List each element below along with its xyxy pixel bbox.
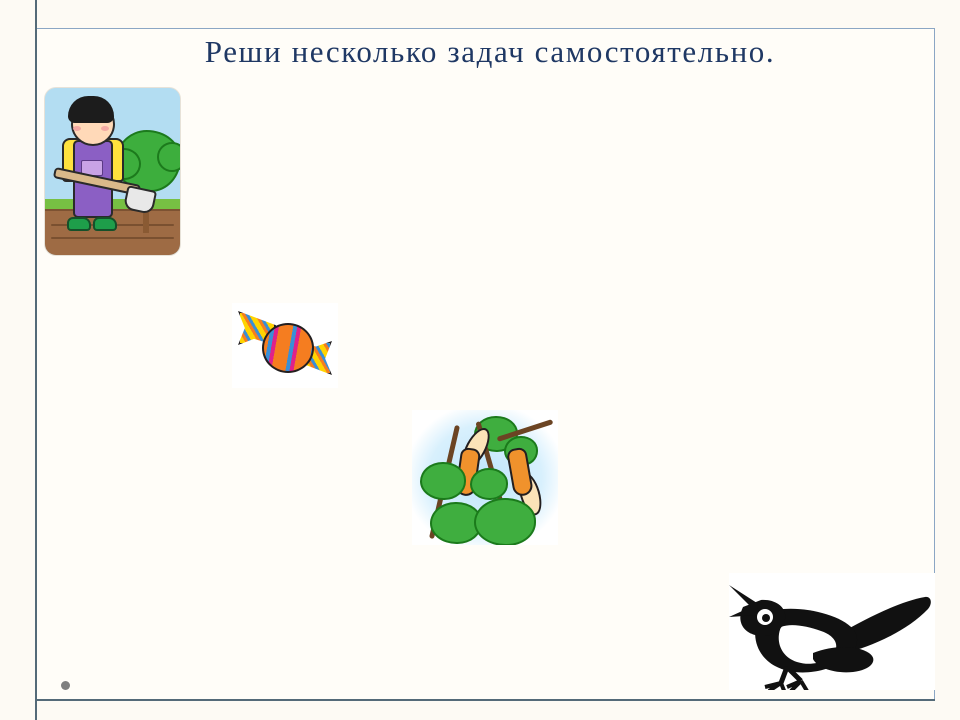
bullet-point xyxy=(61,681,70,690)
page-title: Реши несколько задач самостоятельно. xyxy=(60,34,920,70)
boy-hair xyxy=(68,96,114,123)
leaf xyxy=(474,498,536,545)
boy-cheek-left xyxy=(73,126,81,131)
leaf xyxy=(420,462,466,500)
candy-body xyxy=(262,323,314,373)
slide-left-rule xyxy=(35,0,37,720)
boy-shoe-left xyxy=(67,217,91,231)
soil-strip xyxy=(45,209,180,255)
picture-magpie xyxy=(729,573,935,690)
picture-squirrels xyxy=(412,410,558,545)
boy-shoe-right xyxy=(93,217,117,231)
picture-boy-planting-tree xyxy=(45,88,180,255)
magpie-silhouette xyxy=(729,573,935,690)
leaf xyxy=(470,468,508,500)
boy-cheek-right xyxy=(101,126,109,131)
picture-candy xyxy=(232,303,338,388)
slide-bottom-rule xyxy=(35,699,935,701)
